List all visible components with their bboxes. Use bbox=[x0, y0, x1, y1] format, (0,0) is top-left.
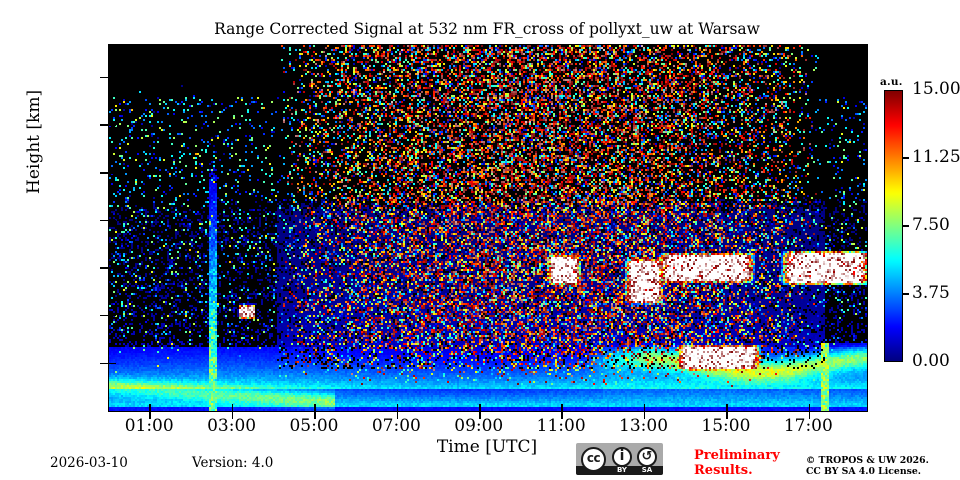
y-tick-mark bbox=[100, 172, 108, 174]
y-tick-mark-inner bbox=[109, 172, 116, 174]
cc-sa-arrow-icon: ↺ bbox=[637, 449, 657, 464]
cc-by-person-icon: i bbox=[612, 449, 632, 464]
y-tick-mark-inner bbox=[109, 267, 116, 269]
version-label: Version: 4.0 bbox=[192, 455, 273, 471]
x-tick-label: 05:00 bbox=[284, 418, 344, 435]
cc-text: cc bbox=[581, 452, 606, 465]
y-tick-mark bbox=[100, 315, 108, 317]
x-tick-label: 03:00 bbox=[202, 418, 262, 435]
colorbar-tick-mark bbox=[903, 293, 909, 294]
colorbar-tick-label: 11.25 bbox=[912, 149, 960, 166]
x-tick-mark-inner bbox=[726, 404, 728, 411]
x-tick-mark-inner bbox=[479, 404, 481, 411]
y-tick-mark bbox=[100, 124, 108, 126]
x-tick-mark-inner bbox=[644, 404, 646, 411]
x-tick-mark-inner bbox=[232, 404, 234, 411]
y-tick-mark bbox=[100, 220, 108, 222]
colorbar-tick-mark bbox=[903, 157, 909, 158]
y-tick-mark bbox=[100, 363, 108, 365]
y-axis-label: Height [km] bbox=[24, 90, 44, 194]
colorbar-tick-label: 0.00 bbox=[912, 353, 950, 370]
x-tick-mark-inner bbox=[809, 404, 811, 411]
y-tick-mark-inner bbox=[109, 77, 116, 79]
y-tick-mark bbox=[100, 77, 108, 79]
x-tick-label: 15:00 bbox=[696, 418, 756, 435]
x-tick-mark-inner bbox=[149, 404, 151, 411]
cc-by-label: BY bbox=[612, 466, 632, 475]
y-axis-label-wrap: Height [km] bbox=[32, 44, 33, 410]
copyright-notice: © TROPOS & UW 2026. CC BY SA 4.0 License… bbox=[806, 455, 929, 477]
x-tick-label: 11:00 bbox=[531, 418, 591, 435]
cc-sa-label: SA bbox=[637, 466, 657, 475]
y-tick-mark-inner bbox=[109, 315, 116, 317]
plot-axes[interactable] bbox=[108, 44, 868, 412]
y-tick-mark-inner bbox=[109, 124, 116, 126]
copyright-line-1: © TROPOS & UW 2026. bbox=[806, 455, 929, 466]
preliminary-line-2: Results. bbox=[694, 463, 780, 478]
copyright-line-2: CC BY SA 4.0 License. bbox=[806, 466, 929, 477]
y-tick-mark-inner bbox=[109, 363, 116, 365]
page-title: Range Corrected Signal at 532 nm FR_cros… bbox=[108, 20, 866, 38]
preliminary-results-notice: Preliminary Results. bbox=[694, 448, 780, 478]
x-tick-label: 01:00 bbox=[119, 418, 179, 435]
x-tick-mark-inner bbox=[314, 404, 316, 411]
preliminary-line-1: Preliminary bbox=[694, 448, 780, 463]
y-tick-mark bbox=[100, 267, 108, 269]
lidar-heatmap-canvas[interactable] bbox=[109, 45, 867, 411]
colorbar-gradient bbox=[884, 90, 903, 362]
colorbar-tick-mark bbox=[903, 225, 909, 226]
x-tick-mark-inner bbox=[397, 404, 399, 411]
colorbar-tick-label: 7.50 bbox=[912, 217, 950, 234]
colorbar-unit-label: a.u. bbox=[880, 76, 903, 88]
colorbar-tick-label: 15.00 bbox=[912, 81, 960, 98]
colorbar-tick-label: 3.75 bbox=[912, 285, 950, 302]
x-tick-label: 09:00 bbox=[449, 418, 509, 435]
x-tick-label: 17:00 bbox=[778, 418, 838, 435]
x-tick-label: 13:00 bbox=[614, 418, 674, 435]
cc-license-badge[interactable]: cc i ↺ BY SA bbox=[576, 443, 663, 475]
x-tick-label: 07:00 bbox=[366, 418, 426, 435]
colorbar[interactable] bbox=[884, 90, 903, 362]
x-tick-mark-inner bbox=[561, 404, 563, 411]
measurement-date: 2026-03-10 bbox=[50, 455, 128, 471]
lidar-quicklook-figure: Range Corrected Signal at 532 nm FR_cros… bbox=[0, 0, 960, 480]
y-tick-mark-inner bbox=[109, 220, 116, 222]
